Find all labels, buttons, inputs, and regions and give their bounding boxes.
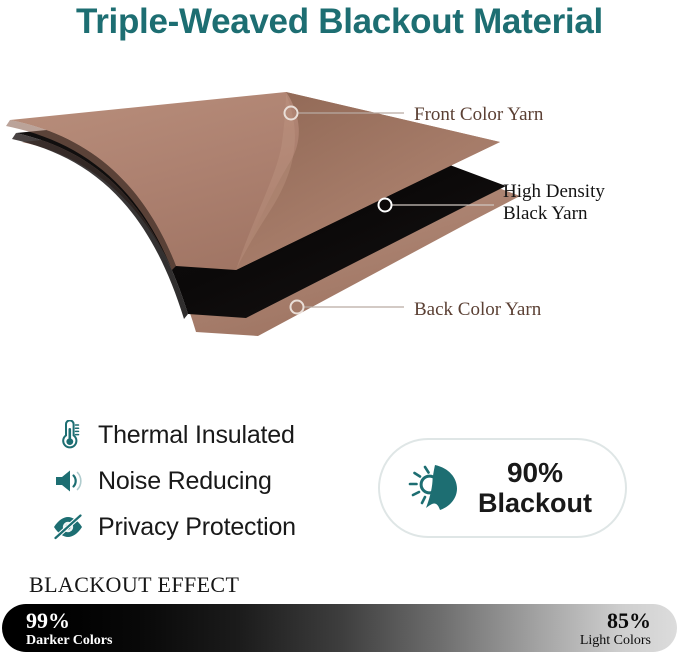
blackout-effect-heading: BLACKOUT EFFECT (29, 572, 239, 598)
feature-item-privacy-protection: Privacy Protection (50, 504, 370, 550)
thermometer-icon (50, 418, 86, 452)
blackout-percent: 90% (478, 458, 592, 488)
callout-label-back-color-yarn: Back Color Yarn (414, 299, 541, 321)
callout-label-high-density-black-yarn: High Density Black Yarn (503, 181, 653, 225)
page-title: Triple-Weaved Blackout Material (0, 2, 679, 42)
feature-list: Thermal Insulated Noise Reducing Privacy… (50, 412, 370, 550)
blackout-effect-gradient-bar: 99% Darker Colors 85% Light Colors (2, 604, 677, 652)
feature-item-noise-reducing: Noise Reducing (50, 458, 370, 504)
feature-item-thermal-insulated: Thermal Insulated (50, 412, 370, 458)
eye-slash-icon (50, 510, 86, 544)
blackout-word: Blackout (478, 488, 592, 518)
speaker-sound-icon (50, 464, 86, 498)
darker-colors-percent: 99% (26, 610, 112, 632)
light-colors-caption: Light Colors (580, 632, 651, 649)
callout-label-line1: High Density (503, 181, 605, 202)
darker-colors-caption: Darker Colors (26, 632, 112, 649)
callout-label-front-color-yarn: Front Color Yarn (414, 104, 543, 126)
feature-label: Thermal Insulated (98, 421, 295, 450)
feature-label: Privacy Protection (98, 513, 296, 542)
blackout-effect-darker-colors: 99% Darker Colors (26, 610, 112, 649)
sun-blocked-by-shade-icon (402, 457, 464, 519)
light-colors-percent: 85% (580, 610, 651, 632)
blackout-badge-text: 90% Blackout (478, 458, 592, 518)
blackout-effect-light-colors: 85% Light Colors (580, 610, 651, 649)
blackout-percentage-badge: 90% Blackout (378, 438, 627, 538)
callout-label-line2: Black Yarn (503, 203, 587, 224)
feature-label: Noise Reducing (98, 467, 272, 496)
